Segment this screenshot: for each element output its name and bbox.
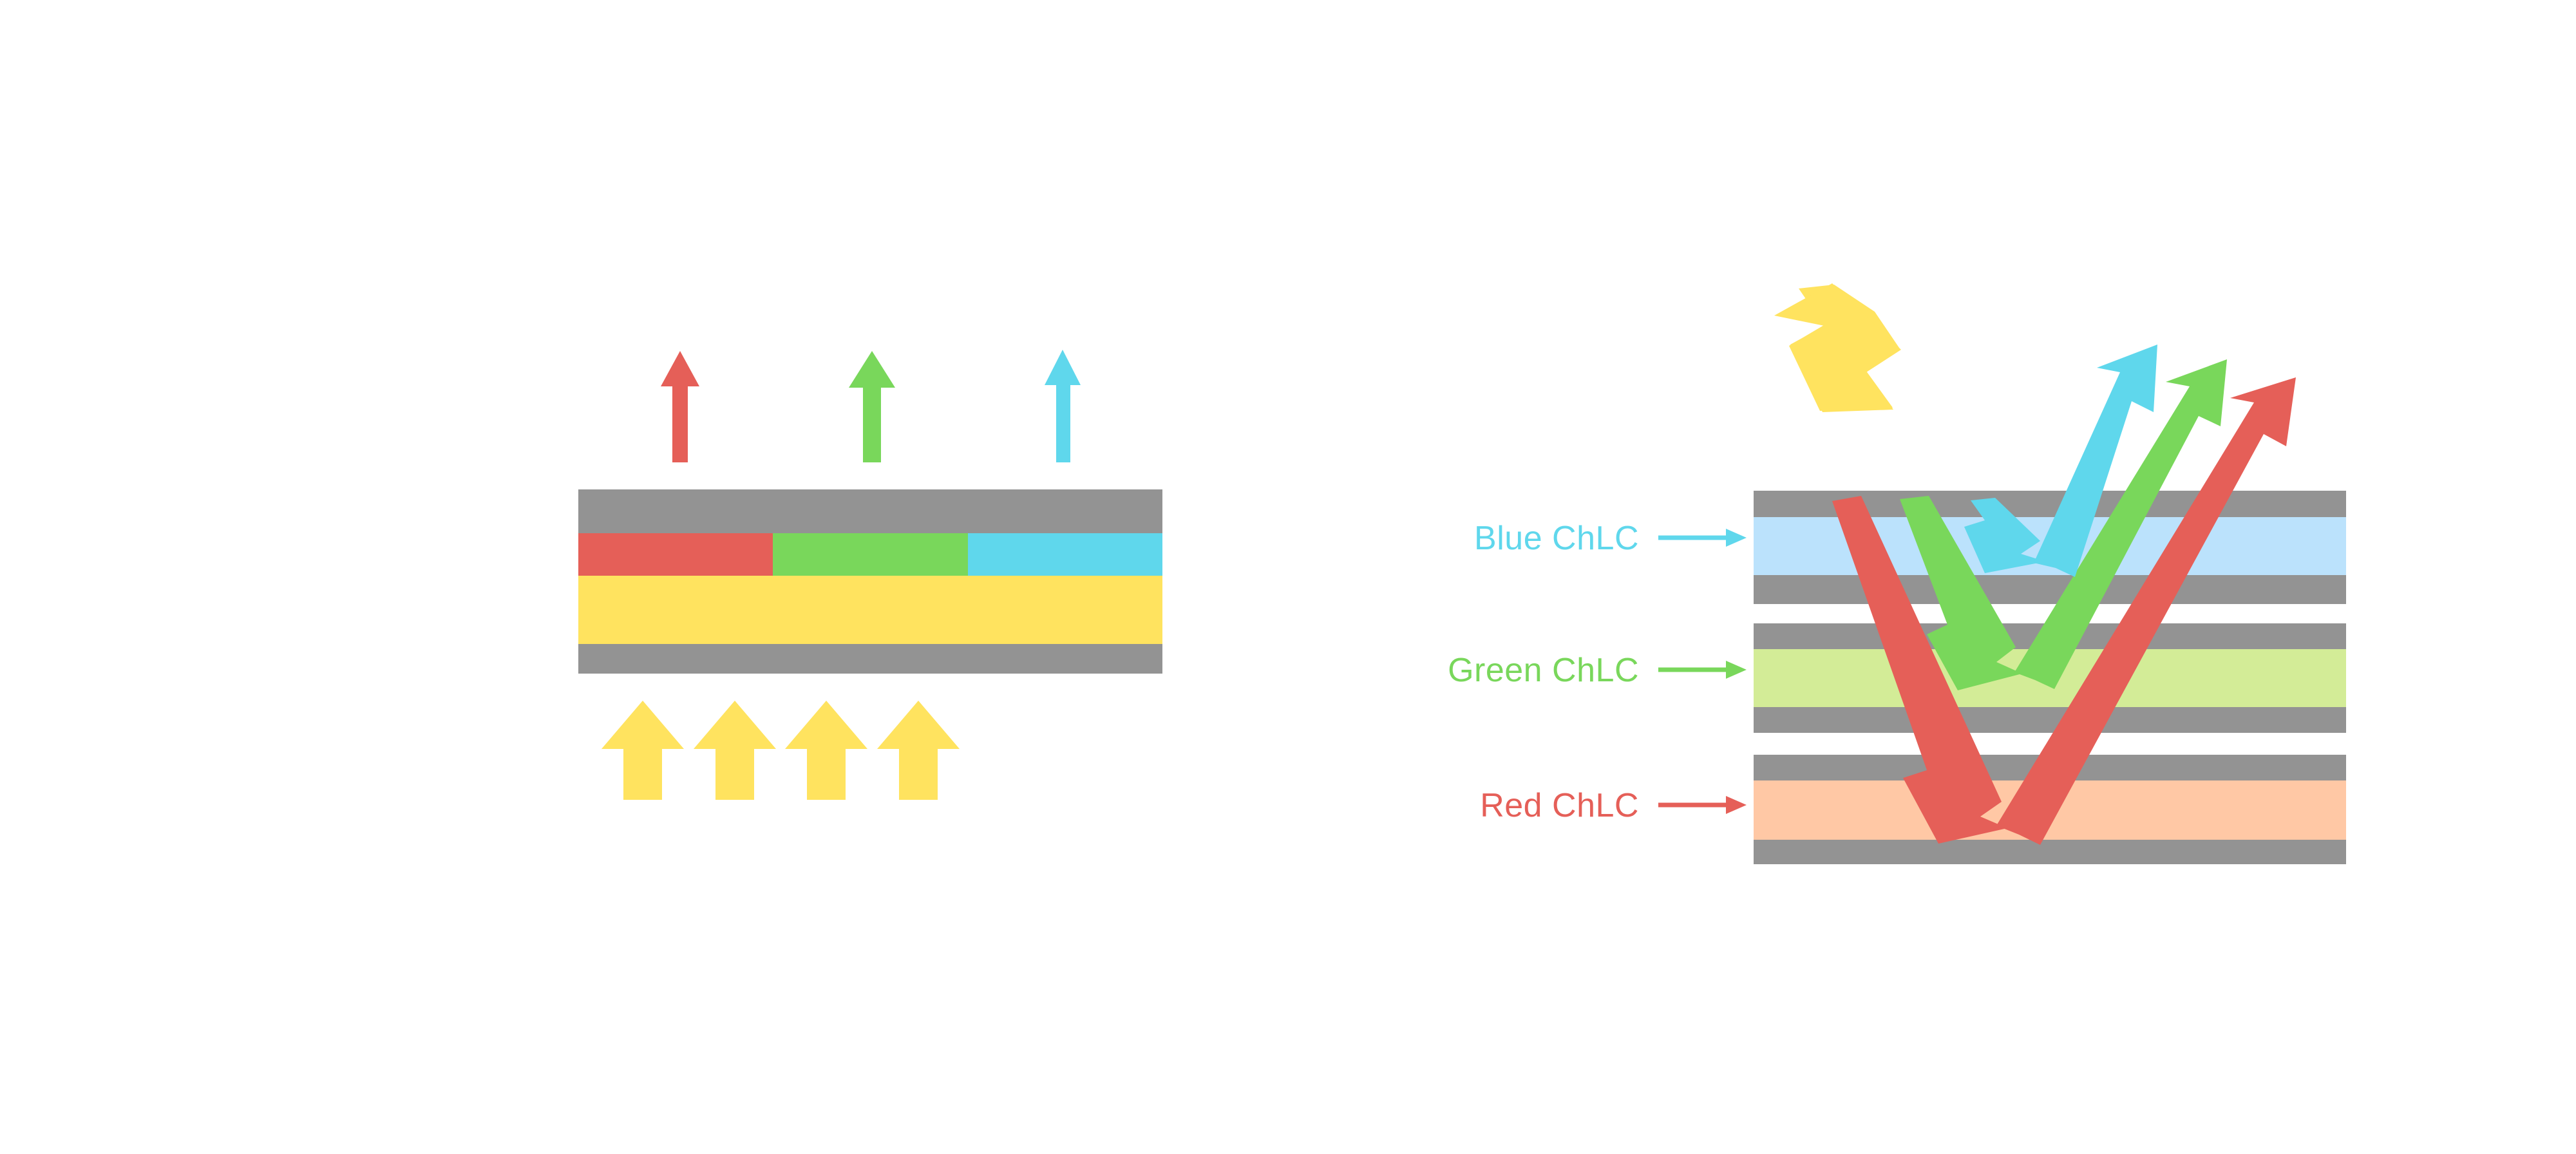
emitted-red-arrow [661, 351, 699, 462]
backlight-arrow-4 [877, 701, 960, 800]
right-panel-group: Blue ChLC Green ChLC Red ChLC [1448, 283, 2346, 864]
label-green-chlc: Green ChLC [1448, 652, 1639, 689]
label-red-chlc: Red ChLC [1480, 787, 1639, 824]
bottom-electrode [578, 644, 1162, 674]
backlight-arrow-1 [601, 701, 684, 800]
color-filter-green [773, 533, 968, 576]
top-electrode [578, 489, 1162, 533]
backlight-layer [578, 576, 1162, 644]
diagram-canvas: Blue ChLC Green ChLC Red ChLC [0, 0, 2576, 1154]
green-label-arrow [1658, 661, 1747, 679]
emitted-green-arrow [849, 351, 895, 462]
emitted-blue-arrow [1045, 350, 1081, 462]
color-filter-blue [968, 533, 1162, 576]
backlight-arrow-3 [785, 701, 867, 800]
backlight-arrow-2 [694, 701, 776, 800]
blue-label-arrow [1658, 529, 1747, 547]
label-blue-chlc: Blue ChLC [1474, 520, 1639, 557]
left-panel-group [578, 350, 1162, 800]
color-filter-red [578, 533, 773, 576]
green-group-bottom-electrode [1754, 707, 2346, 733]
incident-ambient-light-arrow-shaft [1774, 283, 1901, 412]
diagram-svg: Blue ChLC Green ChLC Red ChLC [0, 0, 2576, 1154]
red-group-bottom-electrode [1754, 840, 2346, 864]
blue-group-bottom-electrode [1754, 575, 2346, 604]
red-label-arrow [1658, 796, 1747, 814]
